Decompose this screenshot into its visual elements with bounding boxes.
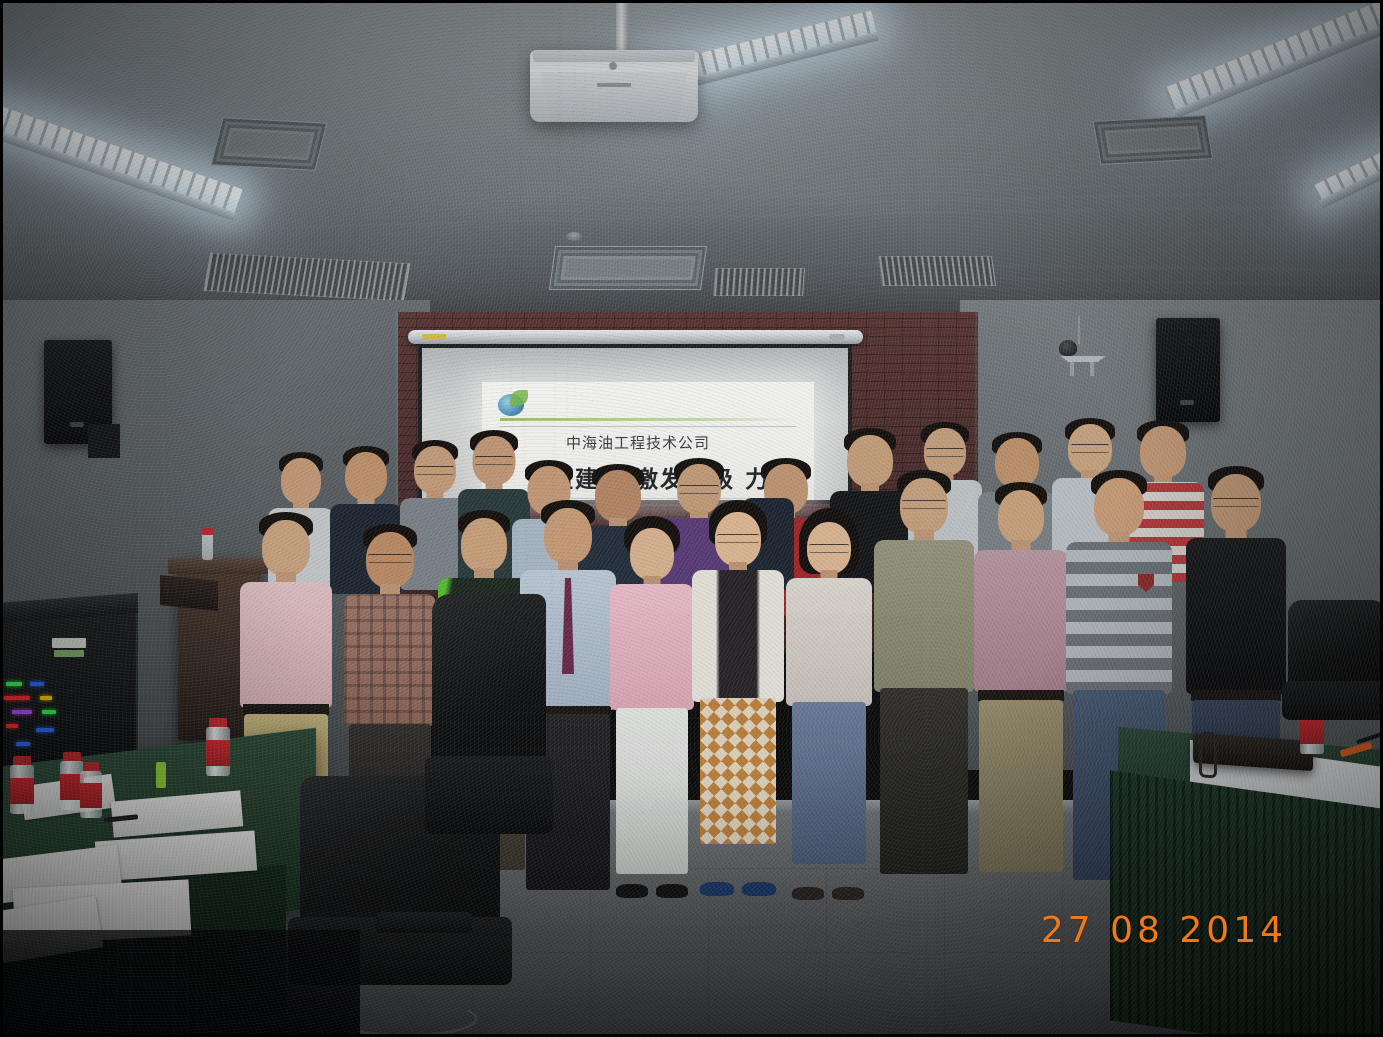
rack-led bbox=[6, 724, 18, 728]
shoe bbox=[742, 882, 776, 896]
polo-shirt bbox=[1186, 538, 1286, 694]
glasses-icon bbox=[416, 466, 454, 475]
rack-led bbox=[6, 682, 22, 686]
screen-knob bbox=[829, 334, 845, 340]
water-bottle bbox=[206, 718, 230, 776]
rack-led bbox=[30, 682, 44, 686]
glasses-icon bbox=[809, 544, 849, 553]
shirt bbox=[240, 582, 332, 708]
glasses-icon bbox=[679, 485, 719, 494]
glasses-icon bbox=[1071, 444, 1109, 453]
glasses-icon bbox=[926, 448, 964, 457]
water-bottle bbox=[10, 756, 34, 814]
rack-led bbox=[40, 696, 52, 700]
highlighter bbox=[156, 762, 166, 788]
rack-led bbox=[36, 728, 54, 732]
hvac-diffuser-right bbox=[1093, 115, 1214, 165]
person-front-row bbox=[692, 500, 784, 886]
speaker-bracket-left bbox=[88, 424, 120, 458]
sandal bbox=[792, 887, 824, 900]
shoe bbox=[616, 884, 648, 898]
return-air-grille-right bbox=[878, 256, 996, 286]
ceiling-projector bbox=[530, 50, 698, 122]
screen-brand-tag bbox=[422, 334, 446, 340]
table-right-skirt bbox=[1110, 770, 1383, 1037]
water-bottle bbox=[80, 762, 102, 818]
person-front-row bbox=[786, 508, 872, 890]
office-chair-foreground-left bbox=[432, 594, 546, 894]
trousers bbox=[616, 708, 688, 874]
shoe bbox=[656, 884, 688, 898]
glasses-icon bbox=[902, 500, 946, 509]
glasses-icon bbox=[717, 534, 759, 543]
sandal bbox=[832, 887, 864, 900]
trousers bbox=[979, 700, 1063, 872]
shoe bbox=[700, 882, 734, 896]
slide-divider bbox=[500, 418, 796, 421]
tshirt bbox=[610, 584, 694, 710]
wall-speaker-right bbox=[1156, 318, 1220, 422]
person-front-row bbox=[874, 470, 974, 880]
rack-led bbox=[4, 696, 30, 700]
patterned-capris bbox=[700, 698, 776, 844]
chair-shadow bbox=[0, 930, 360, 1037]
leaf-icon bbox=[510, 390, 528, 406]
office-chair-right bbox=[1288, 600, 1383, 750]
rack-led bbox=[16, 742, 30, 746]
date-stamp: 27 08 2014 bbox=[1041, 910, 1287, 951]
trousers bbox=[880, 688, 968, 874]
av-equipment-rack bbox=[0, 610, 138, 774]
plaid-shirt bbox=[344, 594, 436, 726]
cardigan bbox=[692, 570, 784, 702]
camera-cable bbox=[1078, 316, 1080, 344]
slide-divider-thin bbox=[500, 426, 796, 427]
glasses-icon bbox=[368, 554, 412, 563]
group-photo: 中海油工程技术公司 组建班 激发班级 力 bbox=[0, 0, 1383, 1037]
shirt bbox=[974, 550, 1068, 692]
lectern-water-bottle bbox=[202, 534, 213, 560]
utility-shirt bbox=[874, 540, 974, 692]
rack-led bbox=[12, 710, 32, 714]
person-front-row bbox=[974, 482, 1068, 880]
tshirt bbox=[786, 578, 872, 706]
striped-polo bbox=[1066, 542, 1172, 694]
hvac-diffuser-left bbox=[211, 117, 328, 171]
smoke-detector bbox=[566, 232, 582, 241]
glasses-icon bbox=[1213, 498, 1259, 507]
jeans bbox=[792, 702, 866, 864]
glasses-icon bbox=[475, 456, 513, 465]
slide-company-line: 中海油工程技术公司 bbox=[566, 432, 710, 453]
ptz-camera bbox=[1060, 340, 1110, 380]
return-air-grille-center bbox=[713, 268, 805, 296]
projector-mount-pole bbox=[616, 0, 629, 56]
hvac-diffuser-center bbox=[549, 246, 707, 290]
projection-screen-housing bbox=[408, 330, 863, 344]
person-front-row bbox=[610, 516, 694, 888]
rack-led bbox=[42, 710, 56, 714]
